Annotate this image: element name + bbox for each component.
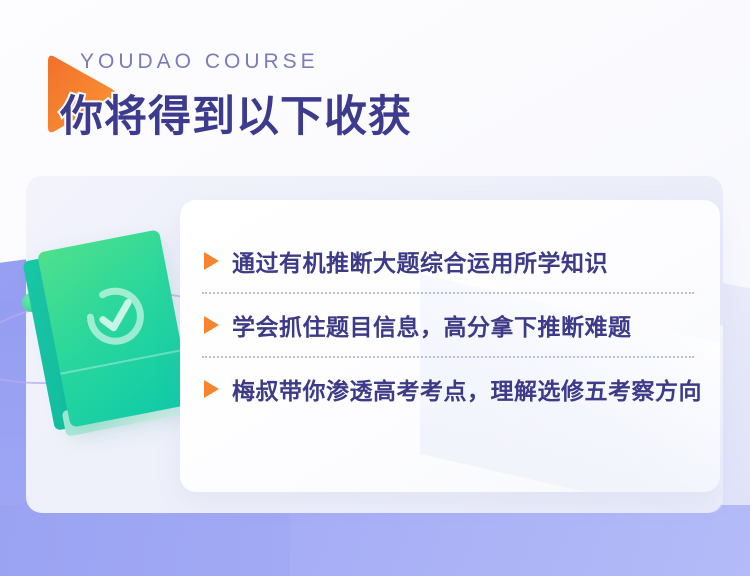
triangle-bullet-icon bbox=[204, 380, 219, 398]
list-item: 梅叔带你渗透高考考点，理解选修五考察方向 bbox=[198, 358, 698, 420]
list-item-label: 学会抓住题目信息，高分拿下推断难题 bbox=[232, 308, 632, 342]
banner-header: YOUDAO COURSE 你将得到以下收获 bbox=[42, 46, 462, 146]
bottom-band-light-shape bbox=[290, 505, 750, 576]
list-item-label: 梅叔带你渗透高考考点，理解选修五考察方向 bbox=[232, 372, 702, 406]
list-divider bbox=[202, 292, 694, 294]
book-band bbox=[60, 349, 182, 375]
triangle-bullet-icon bbox=[204, 252, 219, 270]
list-item-label: 通过有机推断大题综合运用所学知识 bbox=[232, 244, 608, 278]
page-title: 你将得到以下收获 bbox=[60, 82, 412, 144]
brand-kicker: YOUDAO COURSE bbox=[80, 50, 319, 74]
triangle-bullet-icon bbox=[204, 316, 219, 334]
benefits-card: 通过有机推断大题综合运用所学知识 学会抓住题目信息，高分拿下推断难题 梅叔带你渗… bbox=[180, 200, 720, 492]
list-item: 学会抓住题目信息，高分拿下推断难题 bbox=[198, 294, 698, 356]
promo-banner: 通过有机推断大题综合运用所学知识 学会抓住题目信息，高分拿下推断难题 梅叔带你渗… bbox=[0, 0, 750, 576]
list-divider bbox=[202, 356, 694, 358]
check-circle-icon bbox=[79, 280, 152, 353]
benefits-list: 通过有机推断大题综合运用所学知识 学会抓住题目信息，高分拿下推断难题 梅叔带你渗… bbox=[180, 230, 720, 420]
list-item: 通过有机推断大题综合运用所学知识 bbox=[198, 230, 698, 292]
